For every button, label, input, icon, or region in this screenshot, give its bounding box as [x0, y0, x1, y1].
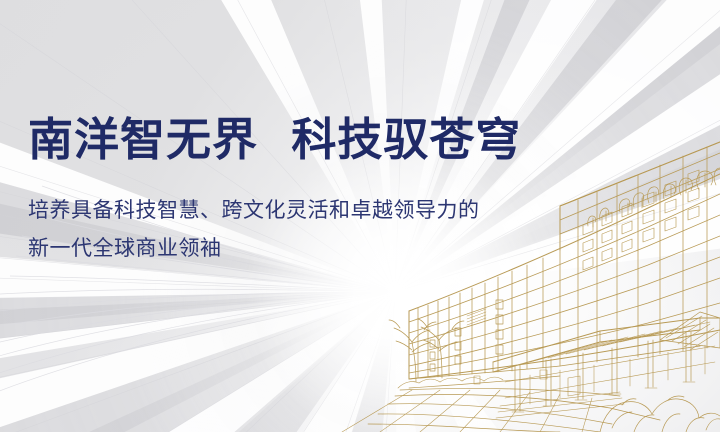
- banner-subtitle-line-2: 新一代全球商业领袖: [28, 230, 480, 268]
- banner-headline: 南洋智无界 科技驭苍穹: [28, 116, 521, 163]
- hero-banner: 南洋智无界 科技驭苍穹 培养具备科技智慧、跨文化灵活和卓越领导力的 新一代全球商…: [0, 0, 720, 432]
- banner-subtitle: 培养具备科技智慧、跨文化灵活和卓越领导力的 新一代全球商业领袖: [28, 192, 480, 268]
- banner-subtitle-line-1: 培养具备科技智慧、跨文化灵活和卓越领导力的: [28, 192, 480, 230]
